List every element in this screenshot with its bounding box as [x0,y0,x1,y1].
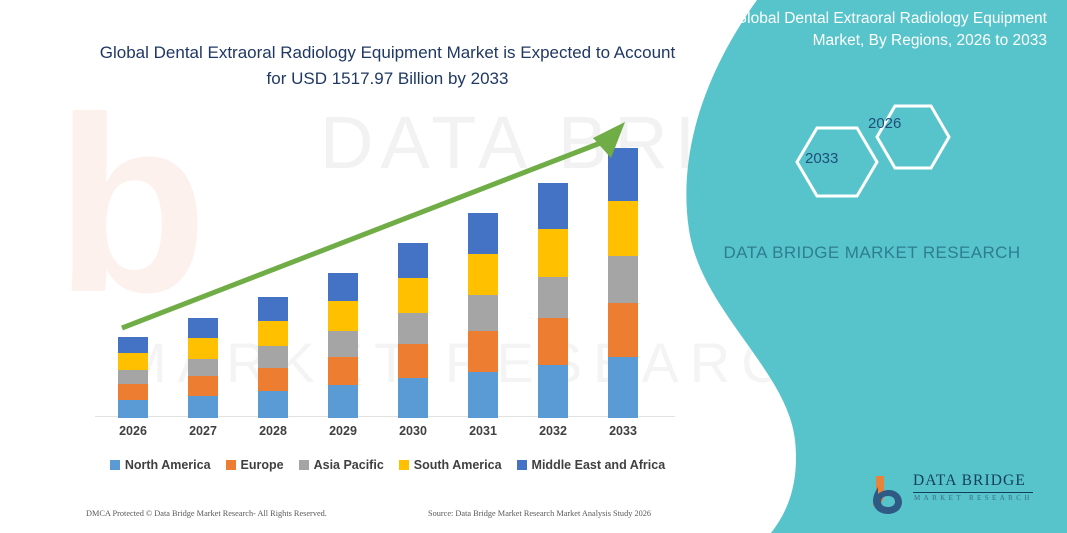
bar-segment-north-america [608,357,638,418]
bar-segment-middle-east-and-africa [328,273,358,302]
bar-segment-south-america [118,353,148,370]
bar-segment-north-america [118,400,148,418]
bar-segment-europe [608,303,638,356]
bar-segment-south-america [468,254,498,296]
bar-segment-asia-pacific [398,313,428,344]
legend-item-north-america[interactable]: North America [110,458,211,472]
bar-2031[interactable] [468,213,498,418]
bar-segment-middle-east-and-africa [608,148,638,201]
bar-segment-middle-east-and-africa [398,243,428,278]
bar-2033[interactable] [608,148,638,418]
bar-2029[interactable] [328,273,358,418]
right-teal-panel: Global Dental Extraoral Radiology Equipm… [667,0,1067,533]
bar-2032[interactable] [538,183,568,418]
bar-segment-asia-pacific [188,359,218,377]
legend-label: Middle East and Africa [532,458,666,472]
bar-segment-asia-pacific [258,346,288,368]
legend-item-middle-east-and-africa[interactable]: Middle East and Africa [517,458,666,472]
legend-label: Asia Pacific [314,458,384,472]
bar-segment-europe [538,318,568,364]
legend-label: North America [125,458,211,472]
legend-item-south-america[interactable]: South America [399,458,502,472]
legend-swatch-icon [110,460,120,470]
legend-item-europe[interactable]: Europe [226,458,284,472]
legend-label: Europe [241,458,284,472]
bar-segment-north-america [328,385,358,418]
bar-segment-asia-pacific [608,256,638,303]
bar-segment-south-america [608,201,638,255]
x-label-2027: 2027 [173,424,233,438]
x-label-2033: 2033 [593,424,653,438]
x-label-2029: 2029 [313,424,373,438]
bar-segment-south-america [188,338,218,359]
bar-segment-middle-east-and-africa [468,213,498,254]
panel-brand-text: DATA BRIDGE MARKET RESEARCH [707,240,1037,266]
bar-segment-south-america [328,301,358,331]
bar-2030[interactable] [398,243,428,418]
bar-segment-asia-pacific [468,295,498,331]
bar-segment-middle-east-and-africa [118,337,148,353]
logo-divider [913,492,1033,493]
legend-swatch-icon [299,460,309,470]
bar-segment-europe [398,344,428,379]
chart-title: Global Dental Extraoral Radiology Equipm… [95,40,680,92]
bar-segment-north-america [468,372,498,418]
footer: DMCA Protected © Data Bridge Market Rese… [0,505,700,525]
bar-2028[interactable] [258,297,288,418]
bar-segment-asia-pacific [118,370,148,385]
bar-segment-europe [328,357,358,386]
hexagon-label-2033: 2033 [805,150,838,167]
hexagon-label-2026: 2026 [868,115,901,132]
footer-copyright: DMCA Protected © Data Bridge Market Rese… [86,509,327,518]
bar-segment-europe [258,368,288,392]
chart-legend: North AmericaEuropeAsia PacificSouth Ame… [95,454,680,476]
bar-segment-north-america [538,365,568,418]
data-bridge-logo: DATA BRIDGE MARKET RESEARCH [868,470,1048,518]
bar-segment-middle-east-and-africa [538,183,568,229]
x-axis-labels: 20262027202820292030203120322033 [95,424,680,446]
legend-label: South America [414,458,502,472]
bar-2027[interactable] [188,318,218,418]
x-label-2030: 2030 [383,424,443,438]
legend-item-asia-pacific[interactable]: Asia Pacific [299,458,384,472]
bar-segment-north-america [188,396,218,418]
bar-segment-middle-east-and-africa [188,318,218,338]
bar-segment-asia-pacific [538,277,568,319]
bar-segment-middle-east-and-africa [258,297,288,321]
bar-segment-south-america [538,229,568,276]
x-label-2028: 2028 [243,424,303,438]
panel-title: Global Dental Extraoral Radiology Equipm… [717,8,1047,52]
panel-shape [667,0,1067,533]
x-label-2031: 2031 [453,424,513,438]
infographic-canvas: b DATA BRIDGE MARKET RESEARCH Global Den… [0,0,1067,533]
bar-segment-europe [118,384,148,400]
x-label-2026: 2026 [103,424,163,438]
bar-segment-asia-pacific [328,331,358,357]
bar-segment-south-america [398,278,428,314]
footer-source: Source: Data Bridge Market Research Mark… [428,509,651,518]
year-hexagons: 2026 2033 [667,90,1067,210]
hexagon-outlines [667,90,1067,210]
legend-swatch-icon [517,460,527,470]
legend-swatch-icon [226,460,236,470]
bar-segment-europe [188,376,218,396]
logo-name: DATA BRIDGE [913,472,1026,490]
bar-2026[interactable] [118,337,148,418]
bar-segment-north-america [398,378,428,418]
bar-segment-europe [468,331,498,372]
bar-segment-south-america [258,321,288,346]
bar-segment-north-america [258,391,288,418]
x-label-2032: 2032 [523,424,583,438]
stacked-bar-plot [95,110,680,418]
logo-tagline: MARKET RESEARCH [914,494,1033,502]
logo-mark-icon [868,472,912,516]
legend-swatch-icon [399,460,409,470]
